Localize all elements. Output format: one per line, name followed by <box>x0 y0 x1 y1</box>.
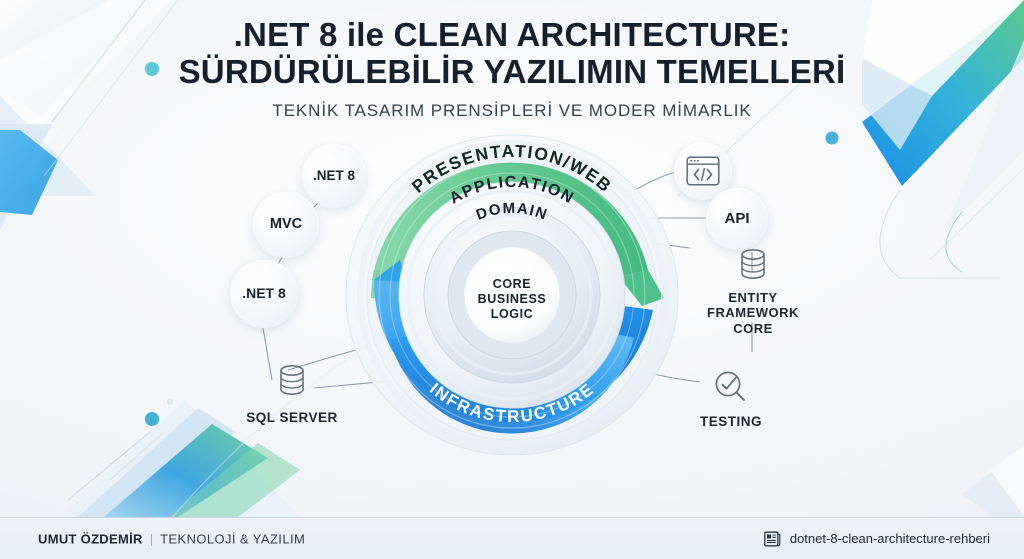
check-circle-icon <box>713 369 747 403</box>
footer-separator: | <box>150 531 153 546</box>
node-dotnet8-lower[interactable]: .NET 8 <box>230 260 298 328</box>
footer-bar: UMUT ÖZDEMİR|TEKNOLOJİ & YAZILIM dotnet-… <box>0 517 1024 559</box>
testing-icon-wrap[interactable] <box>708 364 752 408</box>
architecture-rings: PRESENTATION/WEB APPLICATION DOMAIN INFR… <box>312 130 712 460</box>
node-label-ef-core: ENTITY FRAMEWORK CORE <box>686 290 820 336</box>
footer-tagline: TEKNOLOJİ & YAZILIM <box>160 531 305 546</box>
header: .NET 8 ile CLEAN ARCHITECTURE: SÜRDÜRÜLE… <box>0 18 1024 121</box>
footer-author: UMUT ÖZDEMİR <box>38 531 143 546</box>
node-label: MVC <box>270 217 302 233</box>
node-label-sql-server: SQL SERVER <box>218 410 366 426</box>
node-dotnet8-top[interactable]: .NET 8 <box>302 144 366 208</box>
node-label: .NET 8 <box>313 169 355 184</box>
node-mvc[interactable]: MVC <box>253 192 319 258</box>
page-title-line2: SÜRDÜRÜLEBİLİR YAZILIMIN TEMELLERİ <box>0 55 1024 90</box>
page-subtitle: TEKNİK TASARIM PRENSİPLERİ VE MODER MİMA… <box>0 101 1024 121</box>
core-label-line1: CORE <box>493 277 532 291</box>
core-label-line3: LOGIC <box>491 307 534 321</box>
database-icon <box>738 248 768 280</box>
node-label: API <box>724 211 749 227</box>
core-label-line2: BUSINESS <box>478 292 547 306</box>
code-window-icon <box>686 156 720 186</box>
node-label: .NET 8 <box>242 286 286 301</box>
page-title-line1: .NET 8 ile CLEAN ARCHITECTURE: <box>0 18 1024 53</box>
node-label-testing: TESTING <box>666 414 796 430</box>
footer-author-block: UMUT ÖZDEMİR|TEKNOLOJİ & YAZILIM <box>38 531 305 546</box>
sql-server-icon-wrap[interactable] <box>270 358 314 402</box>
node-api[interactable]: API <box>706 188 768 250</box>
article-icon <box>764 531 781 547</box>
footer-slug-block[interactable]: dotnet-8-clean-architecture-rehberi <box>764 531 990 547</box>
database-icon <box>277 364 307 396</box>
clean-architecture-diagram: PRESENTATION/WEB APPLICATION DOMAIN INFR… <box>0 130 1024 460</box>
footer-slug: dotnet-8-clean-architecture-rehberi <box>790 531 990 546</box>
ef-core-icon-wrap[interactable] <box>731 242 775 286</box>
infographic-canvas: .NET 8 ile CLEAN ARCHITECTURE: SÜRDÜRÜLE… <box>0 0 1024 559</box>
